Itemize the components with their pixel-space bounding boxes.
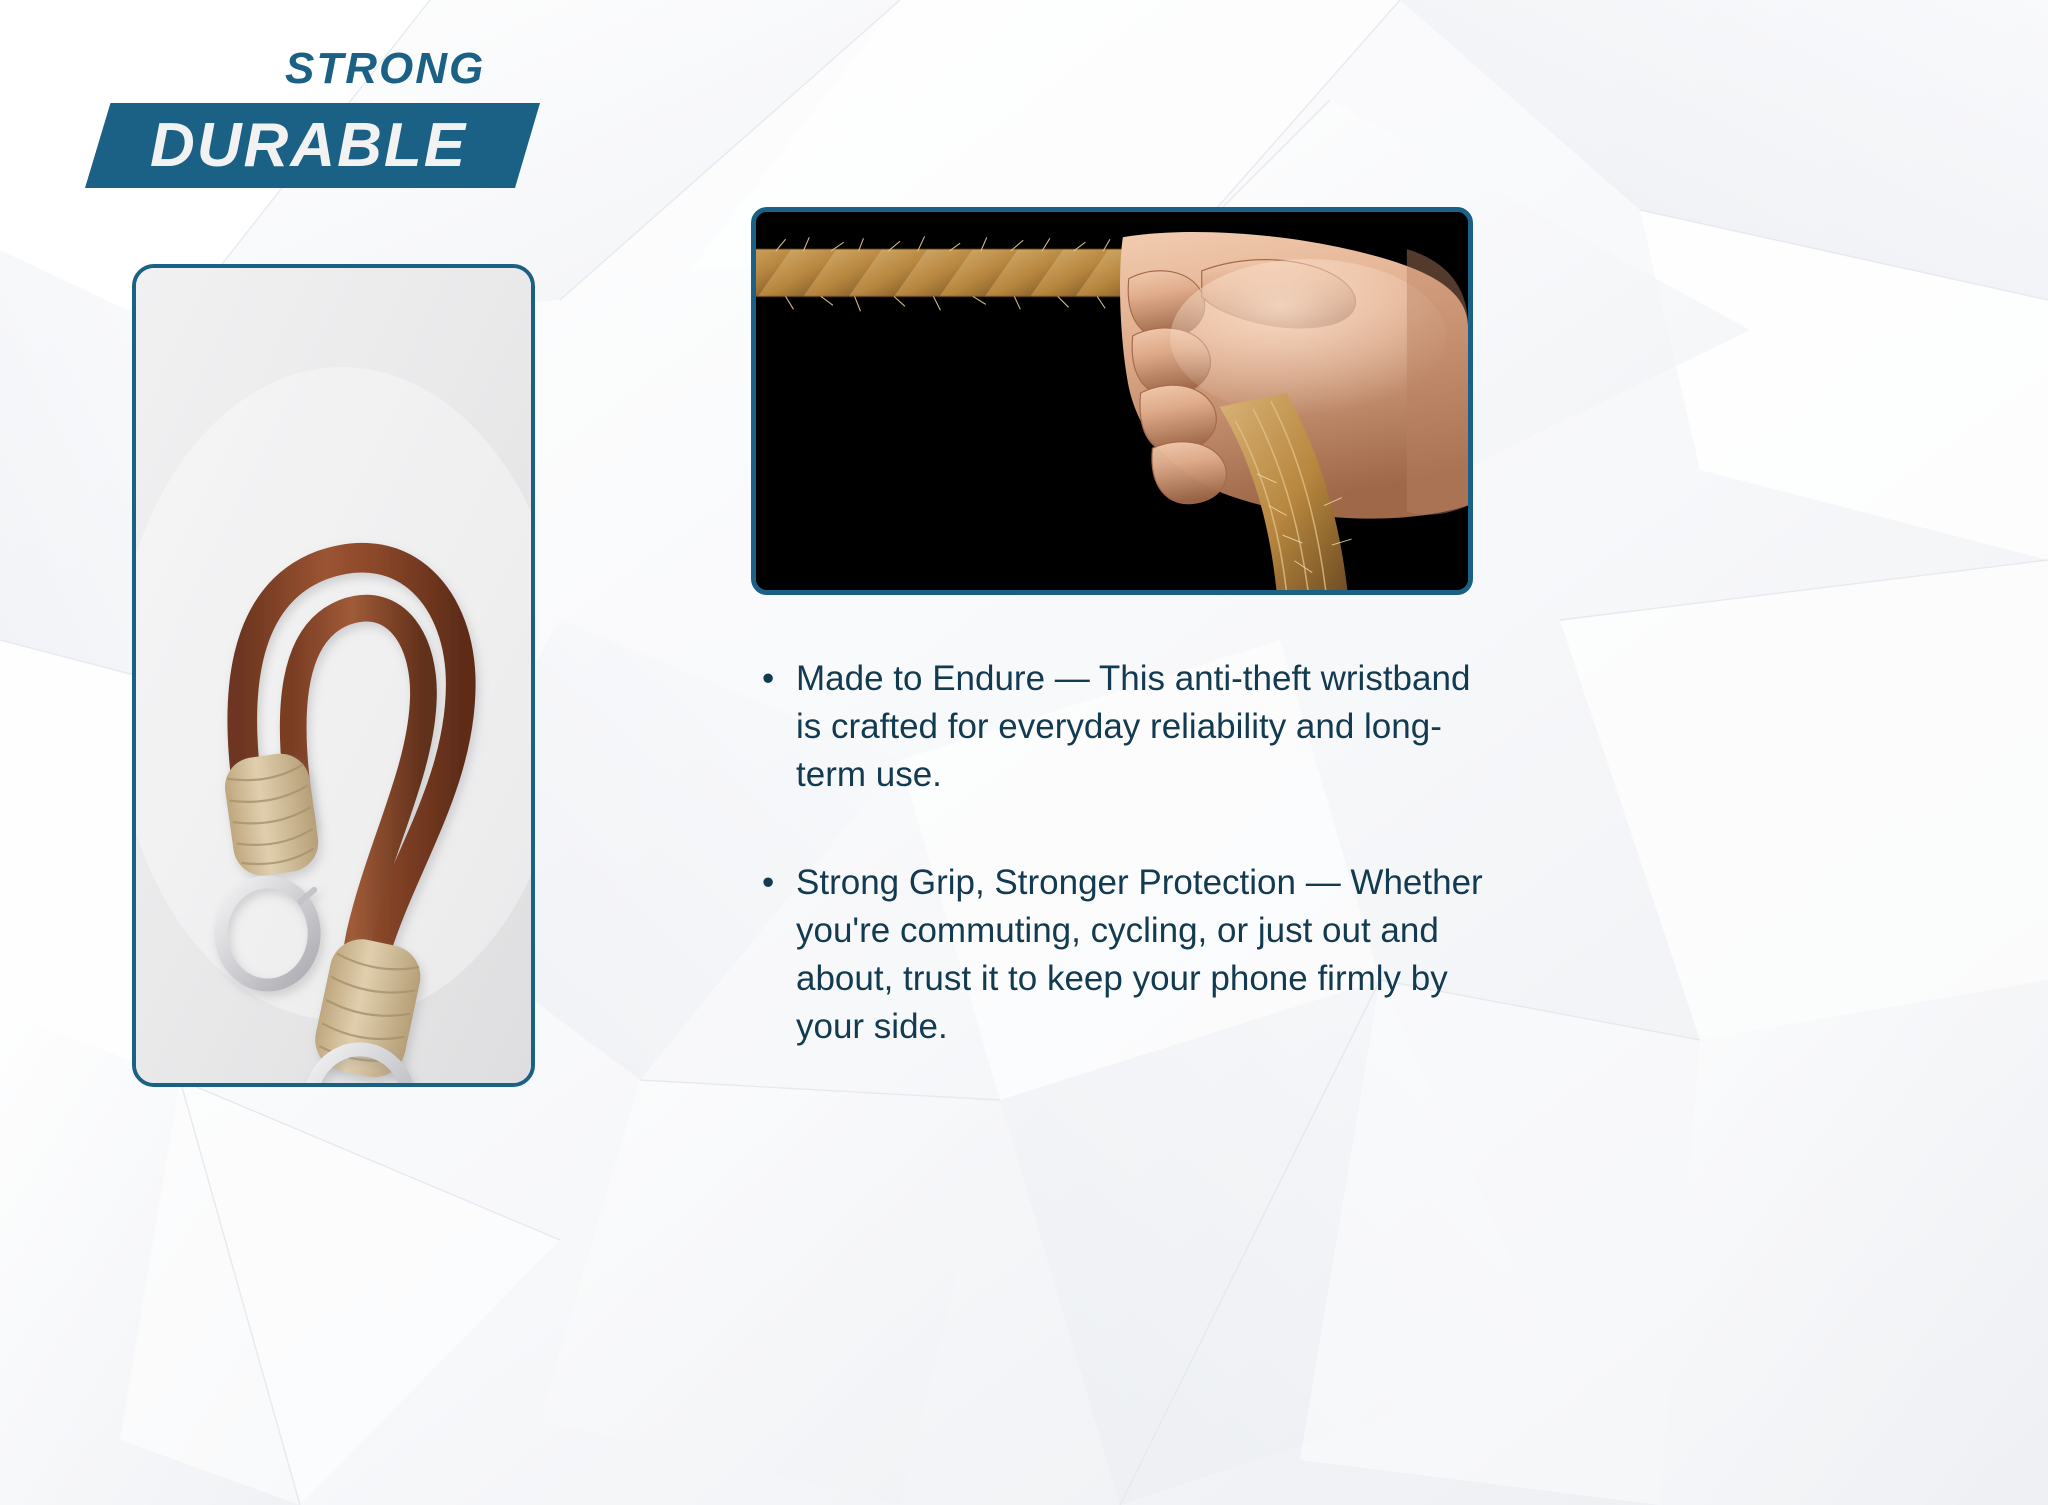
bullet-item: • Strong Grip, Stronger Protection — Whe…	[762, 859, 1492, 1051]
bullet-item: • Made to Endure — This anti-theft wrist…	[762, 655, 1492, 799]
bullet-marker-icon: •	[762, 655, 796, 703]
product-feature-slide: STRONG DURABLE	[0, 0, 2048, 1505]
product-image-card	[132, 264, 535, 1087]
headline-text: DURABLE	[150, 112, 467, 180]
bullet-text: Strong Grip, Stronger Protection — Wheth…	[796, 859, 1492, 1051]
header: STRONG DURABLE	[0, 0, 760, 200]
bullet-text: Made to Endure — This anti-theft wristba…	[796, 655, 1492, 799]
rope-grip-image-card	[751, 207, 1473, 595]
feature-bullet-list: • Made to Endure — This anti-theft wrist…	[762, 655, 1492, 1051]
eyebrow-text: STRONG	[285, 44, 485, 94]
bullet-marker-icon: •	[762, 859, 796, 907]
